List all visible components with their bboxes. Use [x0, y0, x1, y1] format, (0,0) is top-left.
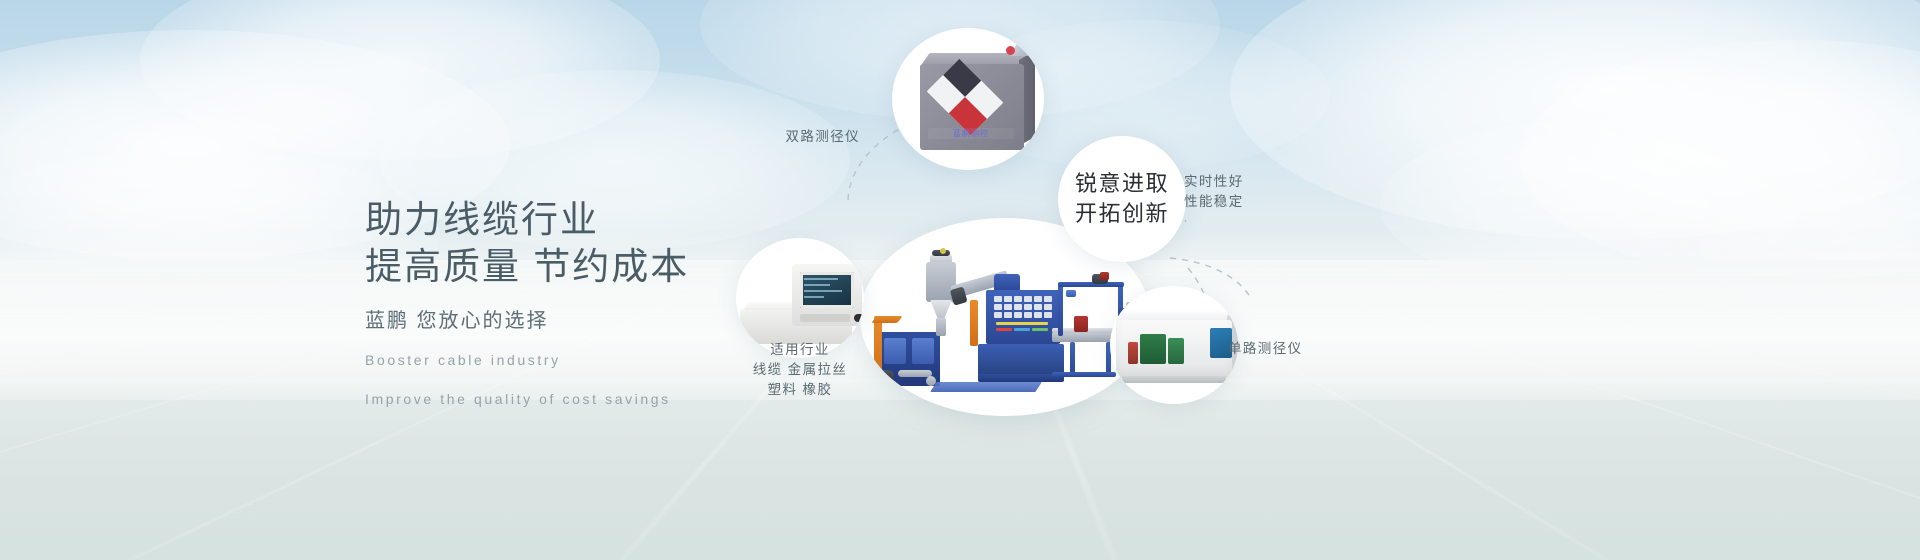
mouse-icon — [854, 314, 864, 322]
single-gauge-illustration — [1110, 294, 1238, 398]
slogan-line-2: 开拓创新 — [1058, 198, 1186, 229]
status-led-icon — [1006, 46, 1015, 55]
label-feature-line-2: 性能稳定 — [1184, 192, 1244, 212]
label-industry-line-1: 线缆 金属拉丝 — [714, 360, 886, 380]
control-console-illustration — [736, 248, 864, 352]
cloud-decoration — [140, 0, 660, 160]
label-industry-title: 适用行业 — [714, 340, 886, 360]
product-collage: 蓝鹏测控 双路测径仪 适用行业 线缆 金属拉丝 塑料 — [700, 0, 1920, 560]
extrusion-line-illustration — [874, 246, 1136, 396]
bubble-single-gauge — [1110, 286, 1238, 404]
label-dual-gauge: 双路测径仪 — [740, 127, 860, 147]
slogan-line-1: 锐意进取 — [1058, 168, 1186, 199]
bubble-dual-gauge: 蓝鹏测控 — [892, 28, 1044, 170]
device-brand-logo: 蓝鹏测控 — [928, 128, 1014, 139]
hero-banner: 助力线缆行业 提高质量 节约成本 蓝鹏 您放心的选择 Booster cable… — [0, 0, 1920, 560]
dual-gauge-illustration: 蓝鹏测控 — [894, 36, 1044, 166]
label-industry-line-2: 塑料 橡胶 — [714, 380, 886, 400]
label-feature-line-1: 实时性好 — [1184, 172, 1244, 192]
label-single-gauge: 单路测径仪 — [1228, 339, 1303, 359]
